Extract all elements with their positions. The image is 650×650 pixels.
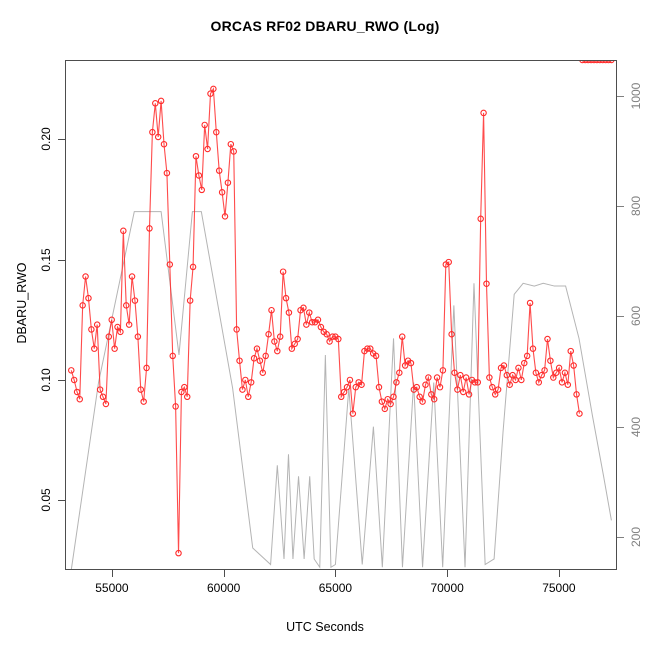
y-tick-mark-right	[617, 427, 624, 428]
y-tick-mark-right	[617, 96, 624, 97]
x-tick-label: 55000	[95, 581, 128, 595]
y-tick-label-right: 400	[629, 417, 643, 437]
y-tick-label-right: 200	[629, 527, 643, 547]
y-tick-mark	[58, 260, 65, 261]
y-tick-mark	[58, 380, 65, 381]
y-tick-mark	[58, 500, 65, 501]
y-tick-label-right: 800	[629, 196, 643, 216]
x-tick-mark	[559, 570, 560, 577]
dbaru-rwo-line	[71, 89, 579, 553]
x-tick-label: 60000	[207, 581, 240, 595]
plot-area	[65, 60, 617, 570]
y-tick-mark	[58, 139, 65, 140]
x-tick-label: 75000	[542, 581, 575, 595]
plot-figure: ORCAS RF02 DBARU_RWO (Log) DBARU_RWO UTC…	[0, 0, 650, 650]
x-tick-label: 70000	[430, 581, 463, 595]
y-tick-mark-right	[617, 206, 624, 207]
y-tick-label: 0.15	[39, 248, 53, 271]
x-tick-mark	[112, 570, 113, 577]
y-tick-mark-right	[617, 316, 624, 317]
y-tick-label-right: 600	[629, 306, 643, 326]
x-tick-mark	[224, 570, 225, 577]
x-tick-label: 65000	[319, 581, 352, 595]
y-axis-label: DBARU_RWO	[15, 223, 29, 383]
y-tick-label: 0.10	[39, 368, 53, 391]
x-tick-mark	[335, 570, 336, 577]
y-tick-label: 0.20	[39, 128, 53, 151]
y-tick-label: 0.05	[39, 489, 53, 512]
page-title: ORCAS RF02 DBARU_RWO (Log)	[0, 18, 650, 34]
y-tick-mark-right	[617, 537, 624, 538]
x-tick-mark	[447, 570, 448, 577]
y-tick-label-right: 1000	[629, 82, 643, 109]
x-axis-label: UTC Seconds	[0, 620, 650, 634]
primary-series-red	[65, 60, 617, 570]
